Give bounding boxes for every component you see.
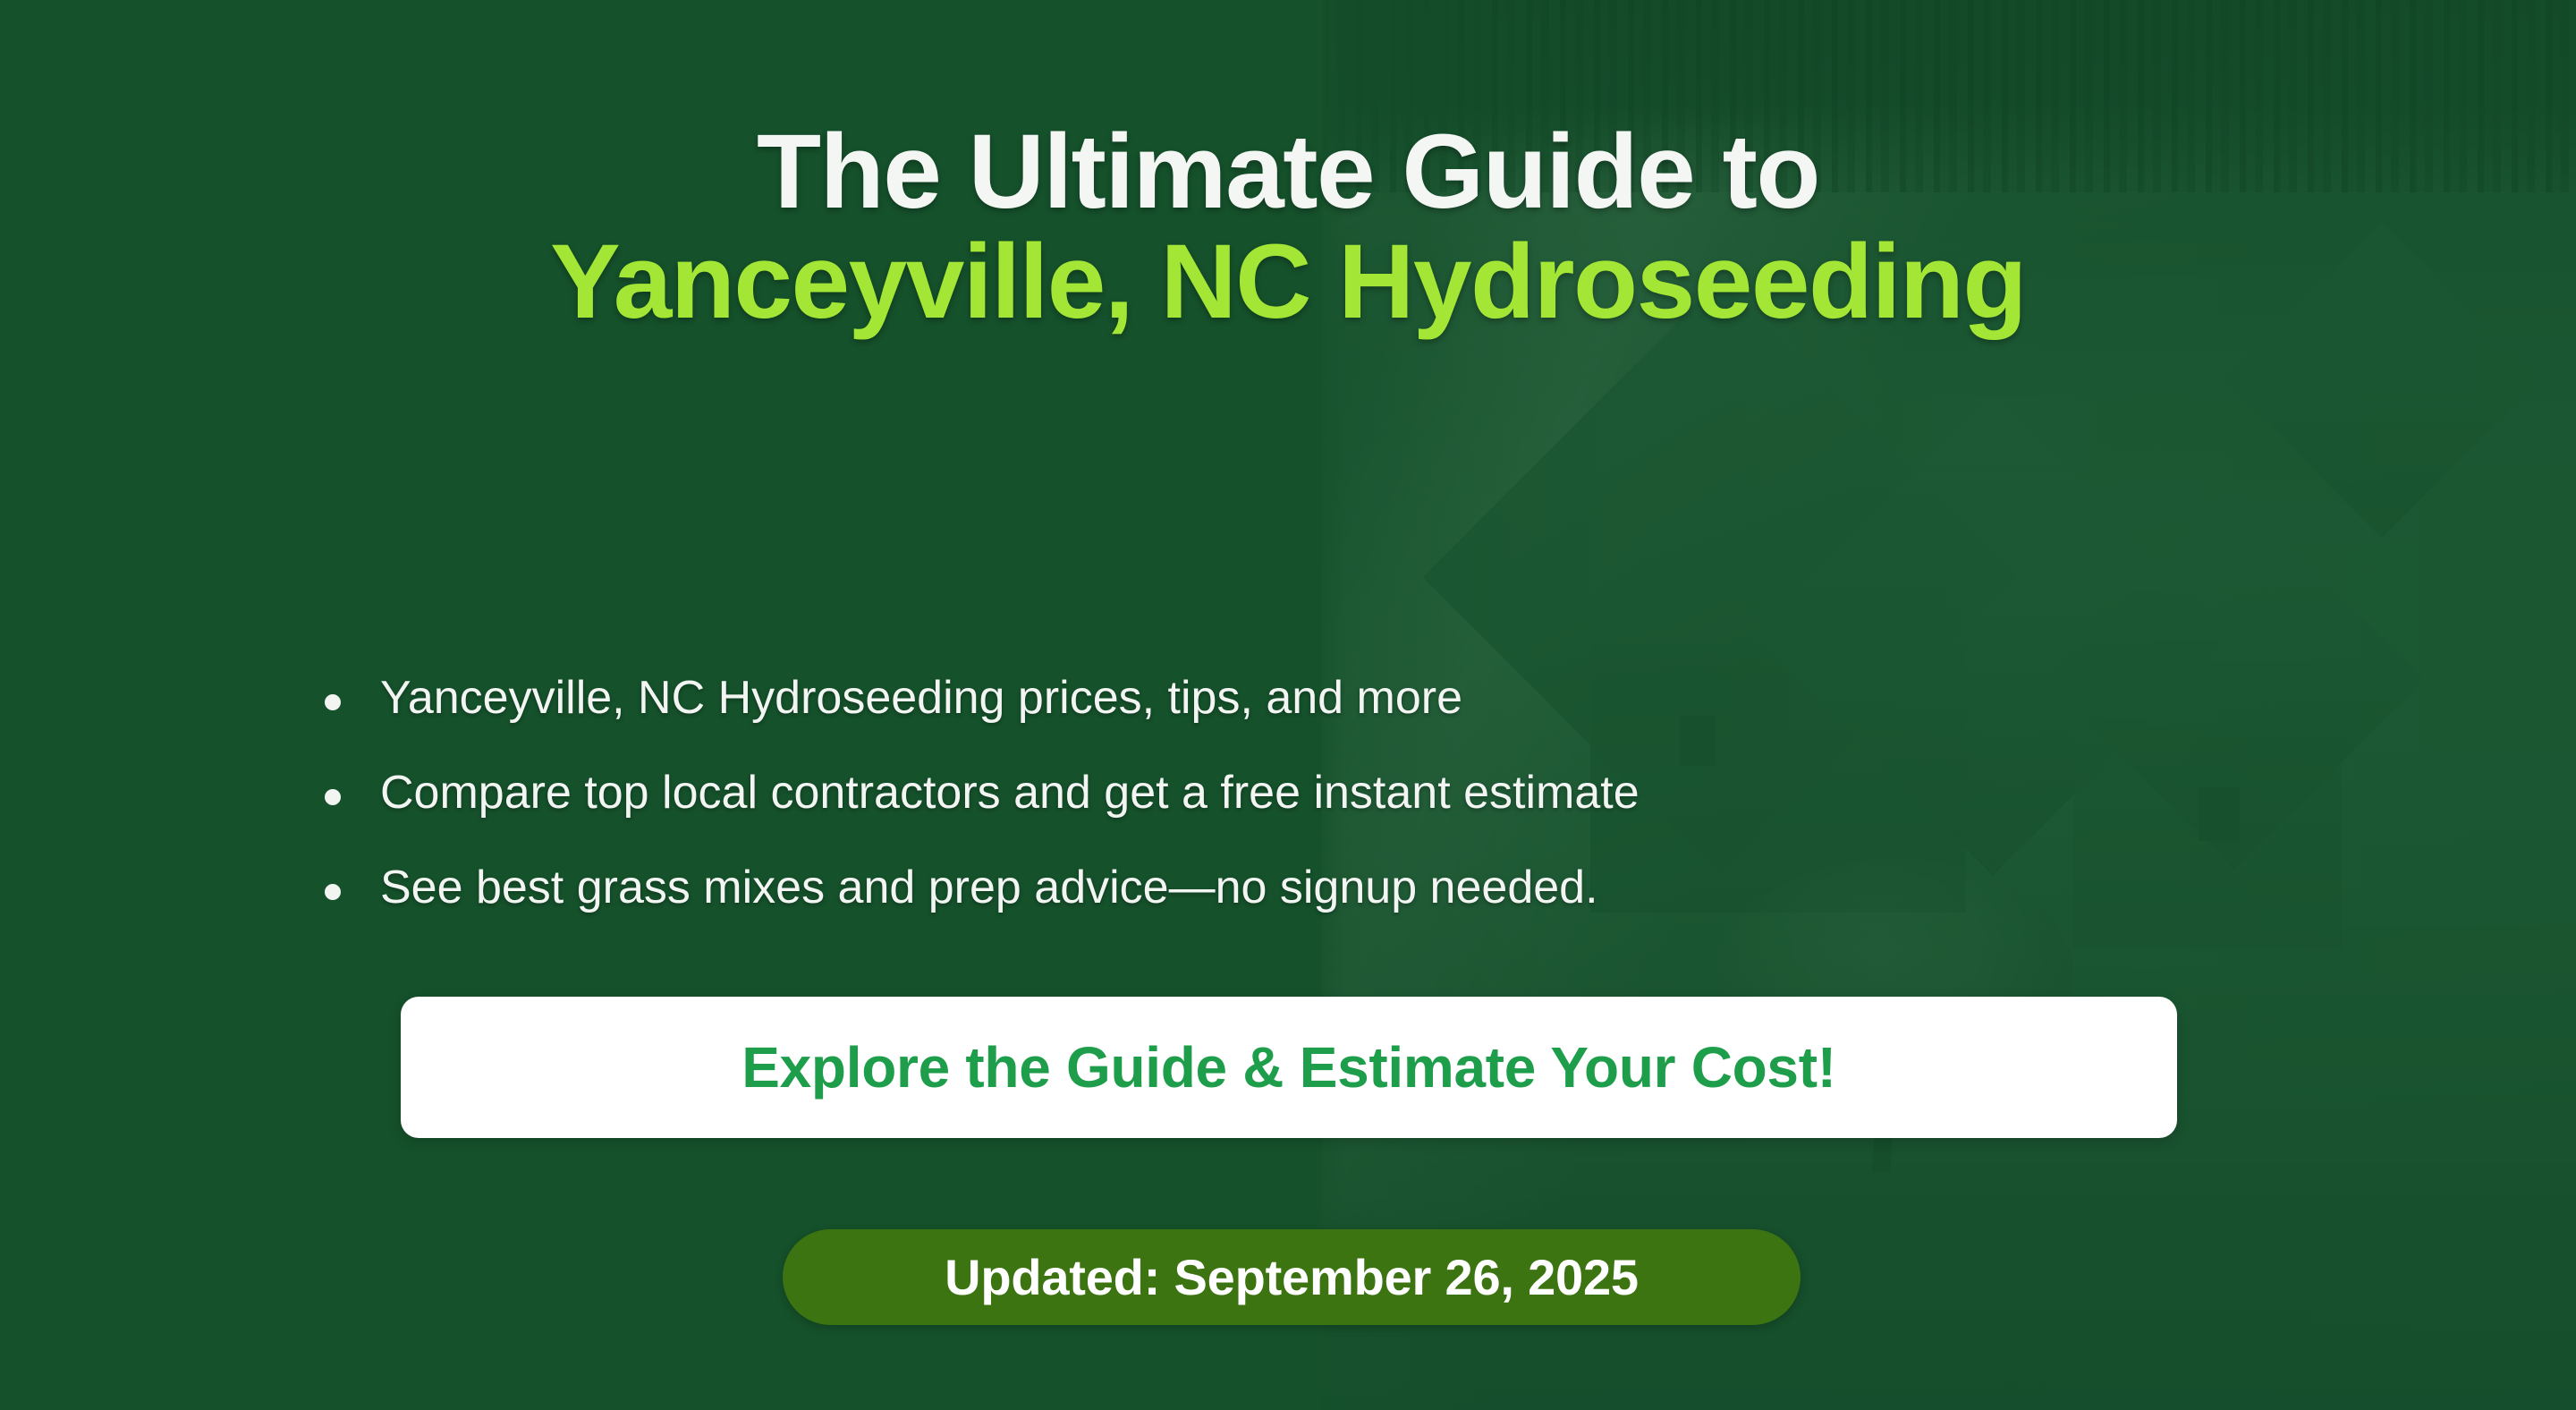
updated-date-badge: Updated: September 26, 2025 <box>783 1229 1801 1325</box>
banner-content: The Ultimate Guide to Yanceyville, NC Hy… <box>0 0 2576 1410</box>
headline-line-2: Yanceyville, NC Hydroseeding <box>152 229 2424 335</box>
headline-line-1: The Ultimate Guide to <box>152 119 2424 225</box>
list-item-label: Yanceyville, NC Hydroseeding prices, tip… <box>380 672 1462 724</box>
list-item: Yanceyville, NC Hydroseeding prices, tip… <box>315 675 1640 721</box>
feature-bullet-list: Yanceyville, NC Hydroseeding prices, tip… <box>315 675 1640 911</box>
hero-banner: The Ultimate Guide to Yanceyville, NC Hy… <box>0 0 2576 1410</box>
page-title: The Ultimate Guide to Yanceyville, NC Hy… <box>0 119 2576 335</box>
list-item-label: See best grass mixes and prep advice—no … <box>380 862 1598 913</box>
list-item-label: Compare top local contractors and get a … <box>380 767 1640 819</box>
bullet-dot-icon <box>325 694 341 710</box>
bullet-dot-icon <box>325 884 341 900</box>
explore-guide-button[interactable]: Explore the Guide & Estimate Your Cost! <box>401 997 2177 1138</box>
list-item: Compare top local contractors and get a … <box>315 769 1640 816</box>
bullet-dot-icon <box>325 789 341 805</box>
list-item: See best grass mixes and prep advice—no … <box>315 864 1640 911</box>
